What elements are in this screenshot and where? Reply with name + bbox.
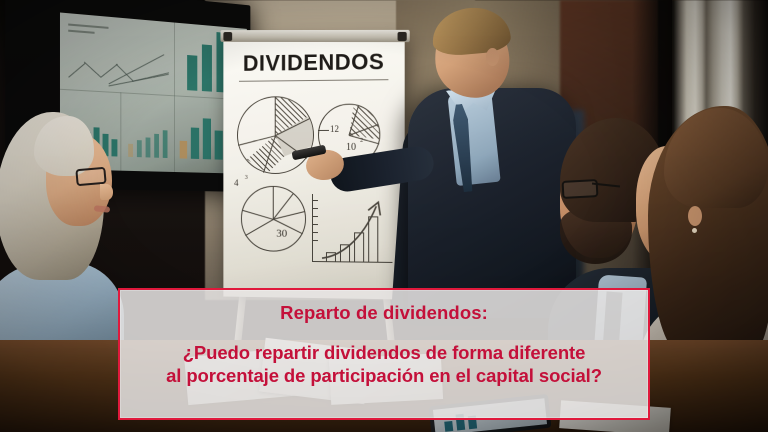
slide-bar — [191, 127, 199, 158]
slide-bar — [146, 137, 151, 157]
flipchart-clip — [220, 30, 409, 42]
slide-bar — [128, 144, 133, 157]
pie-divider — [273, 186, 274, 219]
photo-scene: DIVIDENDOS 12 10 2 — [0, 0, 768, 432]
slide-bar — [203, 118, 211, 159]
pie-divider — [242, 210, 273, 220]
pie-label-30: 30 — [276, 228, 287, 240]
slide-line-segment — [68, 63, 85, 78]
pie-label-10: 10 — [346, 142, 356, 153]
caption-title: Reparto de dividendos: — [130, 302, 638, 324]
growth-arrow-icon — [320, 196, 397, 263]
attendee-left-nose — [100, 184, 113, 200]
flipchart-bar-chart — [312, 194, 392, 263]
caption-question-line-1: ¿Puedo repartir dividendos de forma dife… — [183, 342, 586, 363]
slide-divider — [174, 23, 175, 172]
clip-knob — [398, 32, 407, 41]
pie-divider — [245, 219, 274, 236]
slide-divider — [120, 92, 121, 170]
caption-question: ¿Puedo repartir dividendos de forma dife… — [130, 342, 638, 387]
slide-bar — [180, 141, 187, 159]
axis-tick — [313, 240, 318, 241]
caption-overlay: Reparto de dividendos: ¿Puedo repartir d… — [118, 288, 650, 420]
slide-header-text — [68, 30, 94, 34]
flipchart-title-underline — [239, 79, 388, 82]
slide-header-text — [68, 23, 108, 28]
axis-tick — [313, 208, 318, 209]
slide-line-segment — [84, 62, 102, 78]
slide-trend-line — [109, 74, 169, 87]
axis-tick — [313, 224, 318, 225]
flipchart-title: DIVIDENDOS — [223, 49, 404, 77]
pie-label-3: 3 — [245, 175, 248, 181]
axis-tick — [313, 232, 318, 233]
attendee-woman-ear — [688, 206, 702, 226]
pie-label-2: 2 — [360, 138, 363, 144]
caption-question-line-2: al porcentaje de participación en el cap… — [130, 365, 638, 388]
clip-knob — [223, 32, 232, 41]
slide-bar — [215, 130, 223, 159]
slide-bar — [202, 44, 212, 91]
axis-tick — [313, 216, 318, 217]
presenter-ear — [486, 48, 499, 66]
slide-line-segment — [101, 64, 118, 78]
pie-label-4: 4 — [234, 178, 238, 188]
bar-chart-y-axis — [312, 194, 313, 262]
slide-bar — [187, 55, 197, 91]
pie-label-12: 12 — [330, 124, 339, 134]
pie-divider — [275, 97, 276, 136]
axis-tick — [313, 200, 318, 201]
attendee-woman-earring — [692, 228, 697, 233]
flipchart-pie-chart-3 — [241, 186, 306, 252]
flipchart-pie-chart-1 — [237, 96, 314, 174]
slide-bar — [137, 140, 142, 157]
slide-bar — [111, 139, 117, 156]
pie-label-leader — [318, 130, 329, 131]
tablet-chart-bar — [444, 421, 453, 432]
slide-bar — [163, 130, 168, 158]
slide-bar — [154, 134, 159, 158]
presenter-shirt — [447, 90, 500, 186]
